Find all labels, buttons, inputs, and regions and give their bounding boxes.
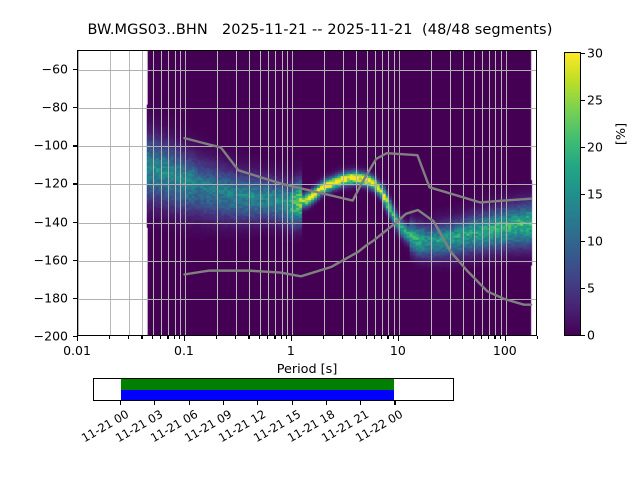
y-tick-label: −140 <box>34 214 68 229</box>
x-tick-mark <box>342 336 343 339</box>
colorbar-tick-label: 5 <box>587 281 595 296</box>
x-tick-mark <box>387 336 388 339</box>
x-tick-mark <box>184 336 185 341</box>
timeline-tick <box>360 401 361 405</box>
colorbar-tick-label: 0 <box>587 328 595 343</box>
y-tick-label: −160 <box>34 252 68 267</box>
colorbar-tick <box>580 53 585 54</box>
timeline-data-bar <box>121 379 394 390</box>
x-tick-mark <box>141 336 142 339</box>
colorbar-tick <box>580 147 585 148</box>
y-tick-mark <box>73 183 78 184</box>
colorbar-tick-label: 25 <box>587 93 603 108</box>
x-tick-label: 10 <box>390 343 406 358</box>
nlnm-curve <box>184 210 531 305</box>
y-tick-label: −180 <box>34 290 68 305</box>
y-tick-mark <box>73 260 78 261</box>
timeline-tick <box>223 401 224 405</box>
x-tick-mark <box>366 336 367 339</box>
timeline-tick <box>326 401 327 405</box>
colorbar-tick <box>580 194 585 195</box>
x-tick-mark <box>248 336 249 339</box>
x-tick-mark <box>430 336 431 339</box>
x-tick-mark <box>481 336 482 339</box>
x-tick-mark <box>462 336 463 339</box>
x-tick-label: 0.1 <box>174 343 194 358</box>
y-tick-mark <box>73 107 78 108</box>
x-tick-mark <box>281 336 282 339</box>
ppsd-axes <box>77 50 537 336</box>
nhnm-curve <box>184 138 531 202</box>
colorbar-tick-label: 30 <box>587 46 603 61</box>
timeline-axes <box>93 378 454 401</box>
x-tick-mark <box>374 336 375 339</box>
x-tick-mark <box>488 336 489 339</box>
x-tick-label: 1 <box>287 343 295 358</box>
ppsd-figure: BW.MGS03..BHN 2025-11-21 -- 2025-11-21 (… <box>0 0 640 480</box>
x-tick-mark <box>128 336 129 339</box>
y-tick-mark <box>73 298 78 299</box>
x-tick-mark <box>494 336 495 339</box>
x-axis-title: Period [s] <box>77 362 537 377</box>
colorbar-tick <box>580 241 585 242</box>
x-tick-mark <box>259 336 260 339</box>
colorbar-gradient <box>565 53 580 335</box>
colorbar-tick-label: 10 <box>587 234 603 249</box>
x-tick-mark <box>77 336 78 341</box>
x-tick-mark <box>216 336 217 339</box>
x-tick-mark <box>473 336 474 339</box>
x-tick-mark <box>393 336 394 339</box>
timeline-tick <box>154 401 155 405</box>
colorbar-tick <box>580 100 585 101</box>
colorbar-title: [%] <box>614 74 629 194</box>
x-tick-mark <box>235 336 236 339</box>
x-tick-mark <box>381 336 382 339</box>
timeline-tick <box>189 401 190 405</box>
x-tick-mark <box>291 336 292 341</box>
y-tick-mark <box>73 69 78 70</box>
x-tick-mark <box>160 336 161 339</box>
timeline-tick <box>257 401 258 405</box>
noise-model-curves <box>78 51 536 335</box>
x-tick-label: 0.01 <box>63 343 91 358</box>
y-tick-label: −200 <box>34 329 68 344</box>
y-tick-label: −80 <box>42 100 68 115</box>
x-tick-label: 100 <box>493 343 517 358</box>
page-title: BW.MGS03..BHN 2025-11-21 -- 2025-11-21 (… <box>0 22 640 38</box>
x-tick-mark <box>286 336 287 339</box>
x-tick-mark <box>355 336 356 339</box>
colorbar: 051015202530 <box>564 52 581 336</box>
x-tick-mark <box>167 336 168 339</box>
x-tick-mark <box>109 336 110 339</box>
timeline-tick <box>120 401 121 405</box>
y-tick-mark <box>73 222 78 223</box>
colorbar-tick-label: 15 <box>587 187 603 202</box>
timeline-psd-bar <box>121 390 394 401</box>
timeline-tick <box>292 401 293 405</box>
y-tick-mark <box>73 145 78 146</box>
y-tick-label: −100 <box>34 138 68 153</box>
y-axis-ticks: −200−180−160−140−120−100−80−60 <box>0 50 77 336</box>
timeline-tick <box>394 401 395 405</box>
x-tick-mark <box>174 336 175 339</box>
x-tick-mark <box>267 336 268 339</box>
x-tick-mark <box>537 336 538 339</box>
x-tick-mark <box>179 336 180 339</box>
x-tick-mark <box>274 336 275 339</box>
colorbar-tick <box>580 288 585 289</box>
x-tick-mark <box>505 336 506 341</box>
colorbar-tick-label: 20 <box>587 140 603 155</box>
y-tick-label: −120 <box>34 176 68 191</box>
x-axis-ticks: 0.010.1110100 <box>77 336 537 362</box>
timeline-ticks: 11-21 0011-21 0311-21 0611-21 0911-21 12… <box>93 401 454 411</box>
x-tick-mark <box>398 336 399 341</box>
x-tick-mark <box>152 336 153 339</box>
colorbar-tick <box>580 335 585 336</box>
x-tick-mark <box>449 336 450 339</box>
x-tick-mark <box>500 336 501 339</box>
x-tick-mark <box>323 336 324 339</box>
y-tick-label: −60 <box>42 62 68 77</box>
